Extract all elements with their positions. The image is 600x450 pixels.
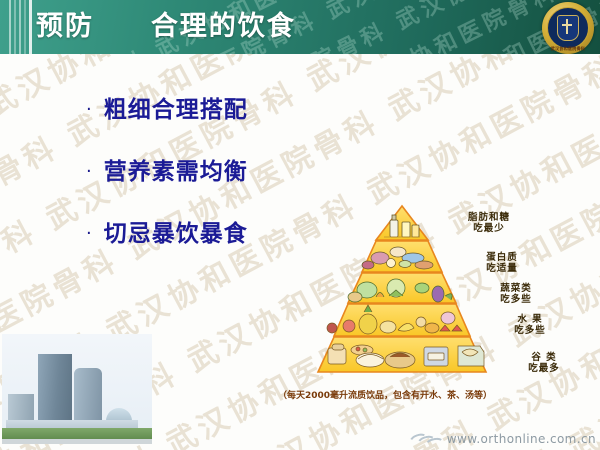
pyramid-label-level-2: 蛋白质 吃适量: [468, 252, 536, 274]
hospital-logo-icon: 武汉协和医院骨科: [542, 2, 594, 54]
pyramid-level-4-advice: 吃多些: [496, 325, 564, 336]
bullet-marker-icon: ·: [86, 158, 92, 186]
pyramid-caption: （每天2000毫升流质饮品，包含有开水、茶、汤等）: [278, 388, 568, 401]
bullet-text: 粗细合理搭配: [104, 96, 248, 124]
pyramid-level-5-name: 谷 类: [510, 352, 578, 363]
pyramid-level-1-name: 脂肪和糖: [452, 212, 526, 223]
food-pyramid-figure: 脂肪和糖 吃最少 蛋白质 吃适量 蔬菜类 吃多些 水 果 吃多些 谷 类 吃最多…: [272, 200, 592, 415]
crest-band-text: 武汉协和医院骨科: [542, 46, 594, 52]
list-item: · 营养素需均衡: [86, 158, 346, 186]
bullet-marker-icon: ·: [86, 96, 92, 124]
page-title-right: 合理的饮食: [151, 11, 296, 42]
pyramid-level-2-advice: 吃适量: [468, 263, 536, 274]
bullet-marker-icon: ·: [86, 220, 92, 248]
pyramid-level-3-advice: 吃多些: [482, 294, 550, 305]
photo-road: [2, 439, 152, 444]
crest-inner: [547, 7, 589, 49]
slide: 武汉协和医院骨科 武汉协和医院骨科 武汉协和医院骨科 武汉协和医院骨科 武汉协和…: [0, 0, 600, 450]
pyramid-label-level-1: 脂肪和糖 吃最少: [452, 212, 526, 234]
swoosh-logo-icon: [409, 432, 443, 446]
header-stripes-decoration: [9, 0, 39, 54]
pyramid-label-level-5: 谷 类 吃最多: [510, 352, 578, 374]
page-title-left: 预防: [36, 11, 94, 42]
pyramid-level-3-name: 蔬菜类: [482, 283, 550, 294]
bullet-text: 切忌暴饮暴食: [104, 220, 248, 248]
pyramid-label-level-3: 蔬菜类 吃多些: [482, 283, 550, 305]
list-item: · 粗细合理搭配: [86, 96, 346, 124]
slide-header: 武汉协和医院骨科 武汉协和医院骨科 武汉协和医院骨科 武汉协和医院骨科 武汉协和…: [0, 0, 600, 54]
hospital-building-photo: [2, 334, 152, 444]
bullet-text: 营养素需均衡: [104, 158, 248, 186]
pyramid-level-4-name: 水 果: [496, 314, 564, 325]
pyramid-level-5-advice: 吃最多: [510, 363, 578, 374]
pyramid-level-1-advice: 吃最少: [452, 223, 526, 234]
pyramid-label-level-4: 水 果 吃多些: [496, 314, 564, 336]
shield-icon: [557, 15, 579, 41]
footer-branding: www.orthonline.com.cn: [409, 430, 596, 448]
page-title: 预防 合理的饮食: [36, 7, 296, 47]
website-url: www.orthonline.com.cn: [447, 432, 596, 446]
pyramid-level-2-name: 蛋白质: [468, 252, 536, 263]
